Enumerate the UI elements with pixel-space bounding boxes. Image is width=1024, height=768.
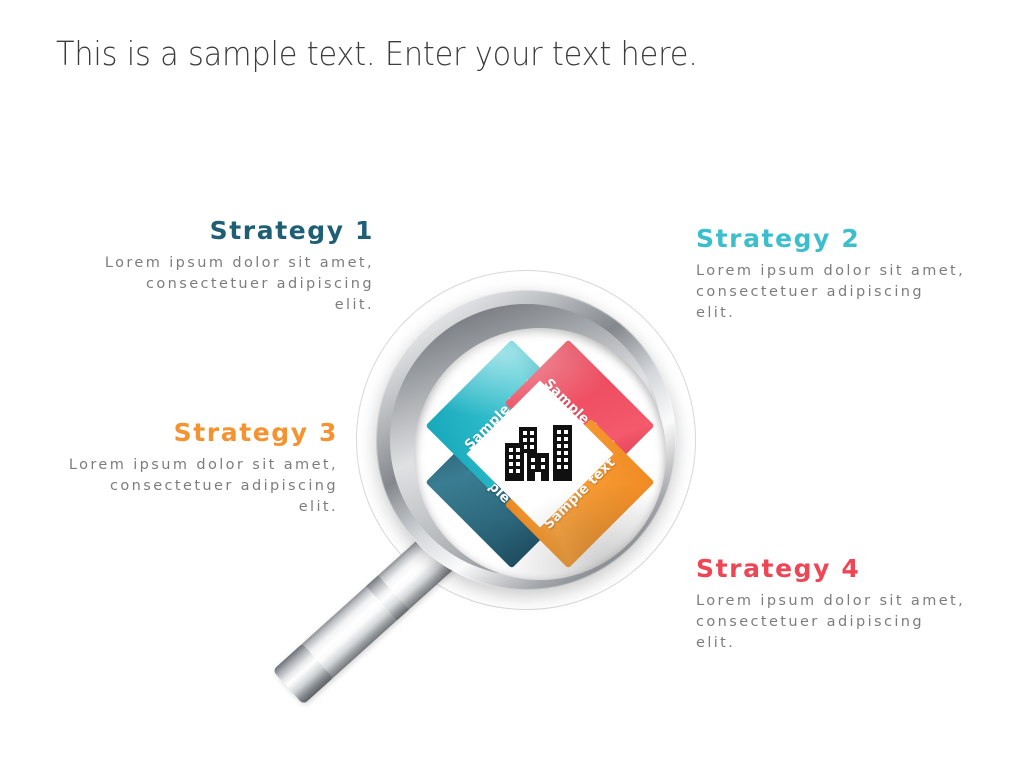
strategy-4-title: Strategy 4 [696, 554, 966, 583]
strategy-block-4: Strategy 4 Lorem ipsum dolor sit amet, c… [696, 554, 966, 654]
lens-glass: Sample text Sample text Sample text Samp… [414, 328, 666, 580]
handle-end-cap [273, 644, 334, 705]
strategy-1-title: Strategy 1 [104, 216, 374, 245]
lens-bezel-ring: Sample text Sample text Sample text Samp… [376, 290, 676, 590]
lens-bezel-inner-shade: Sample text Sample text Sample text Samp… [390, 304, 662, 576]
strategy-block-2: Strategy 2 Lorem ipsum dolor sit amet, c… [696, 224, 966, 324]
handle-collar [366, 575, 409, 620]
strategy-4-body: Lorem ipsum dolor sit amet, consectetuer… [696, 591, 966, 654]
strategy-2-body: Lorem ipsum dolor sit amet, consectetuer… [696, 261, 966, 324]
strategy-2-title: Strategy 2 [696, 224, 966, 253]
buildings-icon [500, 419, 580, 489]
page-title: This is a sample text. Enter your text h… [56, 34, 698, 73]
pinwheel-chart: Sample text Sample text Sample text Samp… [415, 329, 665, 579]
magnifier-graphic: Sample text Sample text Sample text Samp… [228, 262, 708, 662]
